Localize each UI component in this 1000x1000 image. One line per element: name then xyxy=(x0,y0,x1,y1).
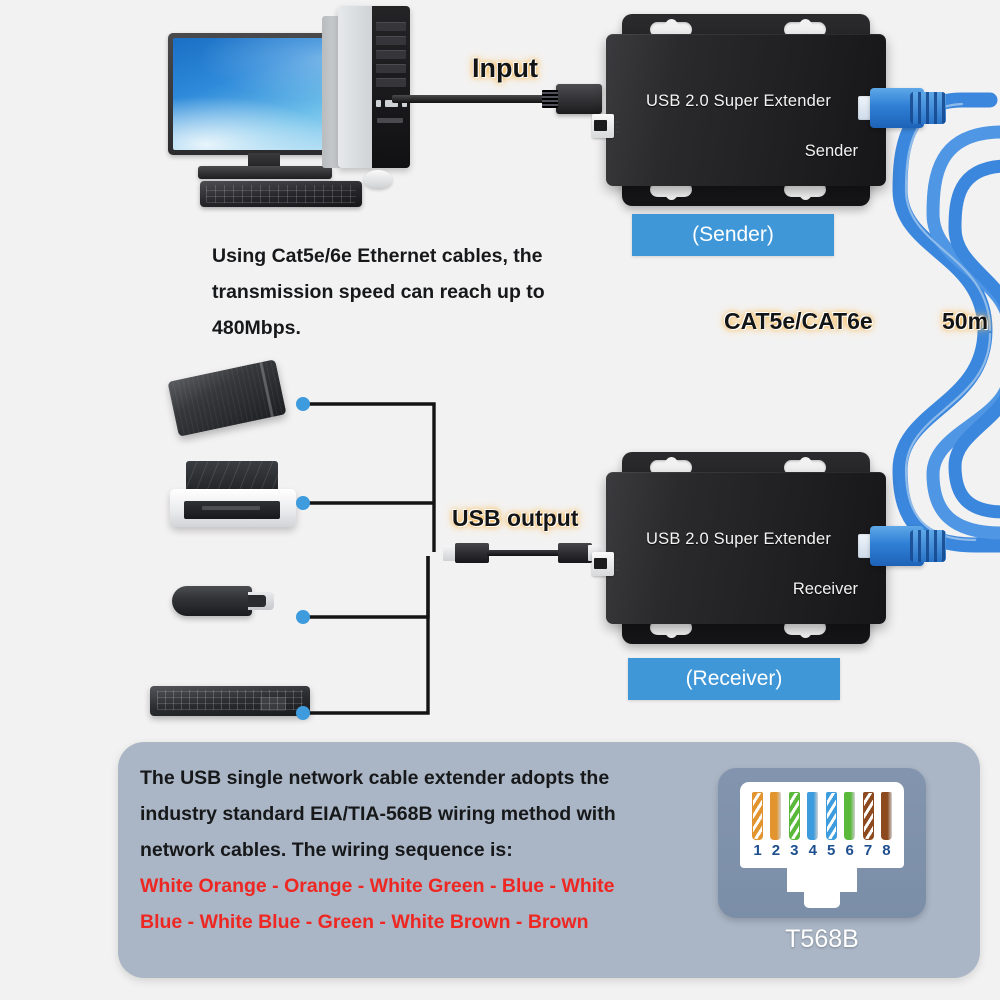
receiver-usb-port[interactable] xyxy=(592,552,614,576)
sender-usb-port[interactable] xyxy=(592,114,614,138)
rj45-pin-number-6: 6 xyxy=(844,842,855,859)
rj45-pin-number-5: 5 xyxy=(826,842,837,859)
pc-tower-front-panel xyxy=(372,6,410,168)
rj45-pin-5 xyxy=(826,792,837,840)
wiring-info-line-2: industry standard EIA/TIA-568B wiring me… xyxy=(140,796,740,832)
rj45-pin-number-7: 7 xyxy=(863,842,874,859)
sender-extender[interactable]: USB 2.0 Super Extender Sender xyxy=(606,14,906,206)
device-usb-flash-drive xyxy=(172,586,252,616)
receiver-banner: (Receiver) xyxy=(628,658,840,700)
speed-note: Using Cat5e/6e Ethernet cables, the tran… xyxy=(212,238,632,346)
receiver-title: USB 2.0 Super Extender xyxy=(646,530,831,549)
rj45-pin-1 xyxy=(752,792,763,840)
device-keyboard xyxy=(150,686,310,716)
cable-spec-label: CAT5e/CAT6e xyxy=(724,308,873,335)
monitor-stand xyxy=(198,166,332,179)
branch-dot-hard-drive xyxy=(296,397,310,411)
receiver-rj45-plug[interactable] xyxy=(858,526,944,566)
speed-note-line-2: transmission speed can reach up to xyxy=(212,274,632,310)
rj45-pin-number-2: 2 xyxy=(770,842,781,859)
rj45-jack-illustration: 12345678 xyxy=(740,782,904,906)
rj45-pin-4 xyxy=(807,792,818,840)
sender-housing: USB 2.0 Super Extender Sender xyxy=(606,34,886,186)
t568b-card: 12345678 xyxy=(718,768,926,918)
wiring-sequence-line-1: White Orange - Orange - White Green - Bl… xyxy=(140,868,740,904)
diagram-canvas: Input USB 2.0 Super Extender Sender (Sen… xyxy=(0,0,1000,1000)
receiver-housing: USB 2.0 Super Extender Receiver xyxy=(606,472,886,624)
rj45-pin-number-4: 4 xyxy=(807,842,818,859)
input-label: Input xyxy=(472,53,538,84)
wiring-info-line-3: network cables. The wiring sequence is: xyxy=(140,832,740,868)
wiring-info-line-1: The USB single network cable extender ad… xyxy=(140,760,740,796)
rj45-pin-numbers: 12345678 xyxy=(752,842,892,859)
usb-output-label: USB output xyxy=(452,505,578,532)
rj45-pin-3 xyxy=(789,792,800,840)
branch-dot-printer xyxy=(296,496,310,510)
input-usb-cable xyxy=(392,95,562,103)
speed-note-line-1: Using Cat5e/6e Ethernet cables, the xyxy=(212,238,632,274)
branch-dot-keyboard xyxy=(296,706,310,720)
rj45-pin-8 xyxy=(881,792,892,840)
speed-note-line-3: 480Mbps. xyxy=(212,310,632,346)
device-external-hard-drive xyxy=(167,359,286,437)
receiver-extender[interactable]: USB 2.0 Super Extender Receiver xyxy=(606,452,906,644)
device-printer xyxy=(170,489,296,527)
usb-output-cable xyxy=(487,550,563,556)
rj45-pin-6 xyxy=(844,792,855,840)
cable-length-label: 50m xyxy=(942,308,988,335)
device-usb-flash-drive-connector xyxy=(248,592,274,610)
rj45-pin-number-3: 3 xyxy=(789,842,800,859)
wiring-info-text: The USB single network cable extender ad… xyxy=(140,760,740,940)
usb-output-plug-right xyxy=(558,543,592,563)
rj45-pin-number-8: 8 xyxy=(881,842,892,859)
sender-role-label: Sender xyxy=(805,142,858,161)
mouse xyxy=(364,170,392,188)
receiver-role-label: Receiver xyxy=(793,580,858,599)
rj45-pin-7 xyxy=(863,792,874,840)
pc-brand-strip xyxy=(377,118,403,123)
sender-rj45-plug[interactable] xyxy=(858,88,944,128)
branch-dot-flash-drive xyxy=(296,610,310,624)
wiring-sequence-line-2: Blue - White Blue - Green - White Brown … xyxy=(140,904,740,940)
usb-output-plug-left xyxy=(455,543,489,563)
t568b-standard-label: T568B xyxy=(718,925,926,954)
rj45-pin-number-1: 1 xyxy=(752,842,763,859)
sender-banner: (Sender) xyxy=(632,214,834,256)
rj45-pin-row xyxy=(752,792,892,842)
sender-title: USB 2.0 Super Extender xyxy=(646,92,831,111)
rj45-pin-2 xyxy=(770,792,781,840)
input-usb-plug xyxy=(556,84,602,114)
desktop-keyboard xyxy=(200,181,362,207)
